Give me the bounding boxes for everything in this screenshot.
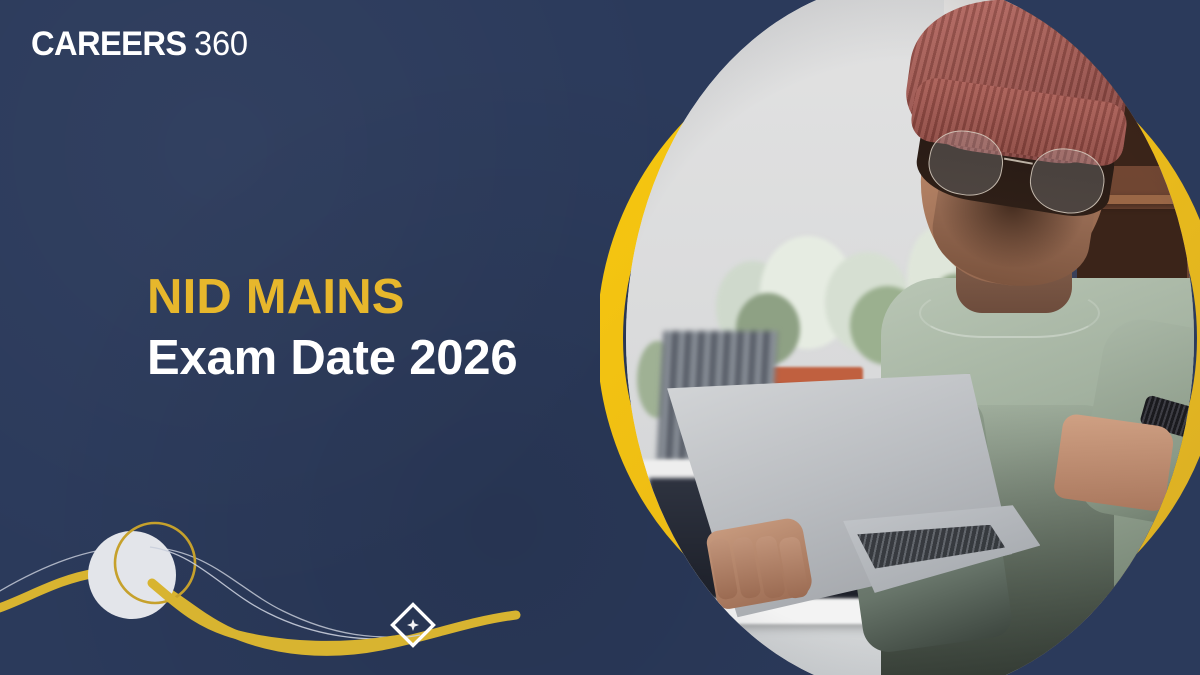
left-hand — [705, 516, 814, 610]
promo-banner: CAREERS 360 NID MAINS Exam Date 2026 — [0, 0, 1200, 675]
headline-line-1: NID MAINS — [147, 272, 517, 324]
light-gray-circle — [88, 531, 176, 619]
photo-clip-circle — [626, 0, 1194, 675]
careers360-logo[interactable]: CAREERS 360 — [31, 25, 250, 64]
headline-line-2: Exam Date 2026 — [147, 331, 517, 386]
right-hand — [1053, 412, 1176, 512]
logo-careers-text: CAREERS — [31, 25, 187, 64]
thin-white-wave-line-front — [150, 547, 420, 639]
hero-photo — [600, 0, 1200, 675]
diamond-sparkle-icon — [385, 597, 441, 653]
gold-wave-line-front — [152, 583, 400, 645]
decorative-shapes-bottom-left — [0, 485, 520, 675]
photo-scene — [626, 0, 1194, 675]
logo-360-text: 360 — [194, 25, 248, 64]
page-title: NID MAINS Exam Date 2026 — [147, 272, 517, 386]
sweatshirt-collar — [919, 288, 1101, 338]
